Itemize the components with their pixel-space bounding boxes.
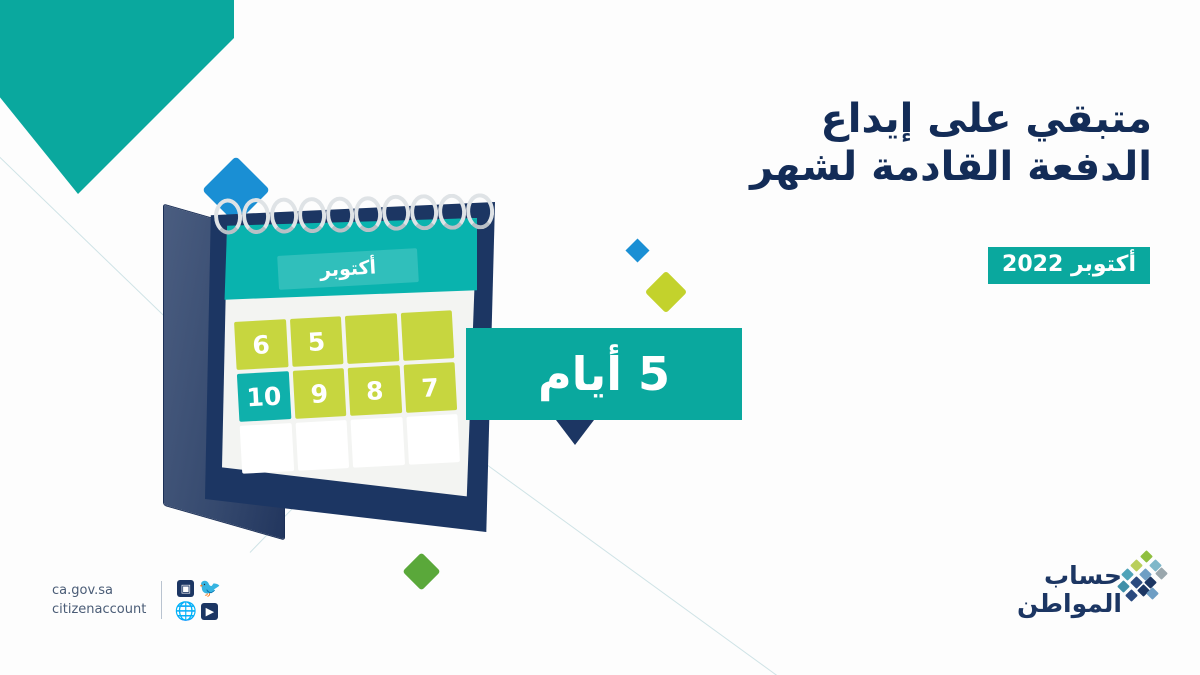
badge-pointer-triangle-icon <box>556 420 594 445</box>
spiral-ring-icon <box>465 193 495 230</box>
spiral-ring-icon <box>381 194 411 231</box>
calendar-day-grid: 5678910 <box>234 310 460 474</box>
calendar-day-cell <box>295 420 349 471</box>
lime-diamond-icon <box>645 271 687 313</box>
headline-line-1: متبقي على إيداع <box>632 95 1152 143</box>
instagram-icon[interactable]: ▣ <box>177 580 194 597</box>
calendar-day-cell <box>240 423 294 474</box>
poster-canvas: أكتوبر 5678910 5 أيام متبقي على إيداع ال… <box>0 0 1200 675</box>
brand-name-line-2: المواطن <box>1017 590 1122 618</box>
calendar-day-cell: 9 <box>292 368 346 419</box>
calendar-day-cell: 6 <box>234 319 288 370</box>
days-remaining-badge: 5 أيام <box>466 328 742 420</box>
spiral-ring-icon <box>213 198 243 235</box>
spiral-ring-icon <box>297 196 327 233</box>
calendar-day-cell <box>400 310 454 361</box>
page-title: متبقي على إيداع الدفعة القادمة لشهر <box>632 95 1152 191</box>
youtube-icon[interactable]: ▶ <box>201 603 218 620</box>
calendar-day-cell: 10 <box>237 371 291 422</box>
spiral-ring-icon <box>437 193 467 230</box>
hairline-diagonal-bottom <box>470 452 891 675</box>
brand-diamond-piece <box>1140 550 1153 563</box>
calendar-illustration: أكتوبر 5678910 <box>150 188 510 558</box>
brand-logo: حساب المواطن <box>1010 556 1160 630</box>
social-handle-text: ca.gov.sa citizenaccount <box>52 583 146 617</box>
month-year-badge: أكتوبر 2022 <box>988 247 1150 284</box>
social-icon-grid[interactable]: 🐦 ▣ ▶ 🌐 <box>177 580 218 620</box>
calendar-day-cell <box>351 417 405 468</box>
brand-diamond-piece <box>1130 559 1143 572</box>
spiral-ring-icon <box>409 194 439 231</box>
days-remaining-label: 5 أيام <box>466 328 742 420</box>
green-diamond-icon <box>402 552 440 590</box>
blue-diamond-small-icon <box>625 238 649 262</box>
brand-diamond-piece <box>1125 589 1138 602</box>
social-icon-row-bottom[interactable]: ▶ 🌐 <box>177 603 218 620</box>
calendar-day-cell: 7 <box>403 362 457 413</box>
corner-teal-shape <box>0 0 234 194</box>
calendar-day-cell <box>406 414 460 465</box>
brand-wordmark: حساب المواطن <box>1017 562 1122 618</box>
website-url[interactable]: ca.gov.sa <box>52 583 146 598</box>
social-icon-row-top[interactable]: 🐦 ▣ <box>177 580 218 597</box>
twitter-icon[interactable]: 🐦 <box>201 580 218 597</box>
headline-line-2: الدفعة القادمة لشهر <box>632 143 1152 191</box>
calendar-day-cell <box>345 313 399 364</box>
spiral-ring-icon <box>325 196 355 233</box>
spiral-ring-icon <box>353 195 383 232</box>
brand-name-line-1: حساب <box>1017 562 1122 590</box>
globe-icon[interactable]: 🌐 <box>177 603 194 620</box>
social-links[interactable]: 🐦 ▣ ▶ 🌐 ca.gov.sa citizenaccount <box>52 580 218 620</box>
calendar-day-cell: 8 <box>348 365 402 416</box>
spiral-ring-icon <box>241 197 271 234</box>
spiral-ring-icon <box>269 197 299 234</box>
account-handle[interactable]: citizenaccount <box>52 602 146 617</box>
social-divider <box>161 581 162 619</box>
calendar-day-cell: 5 <box>289 316 343 367</box>
